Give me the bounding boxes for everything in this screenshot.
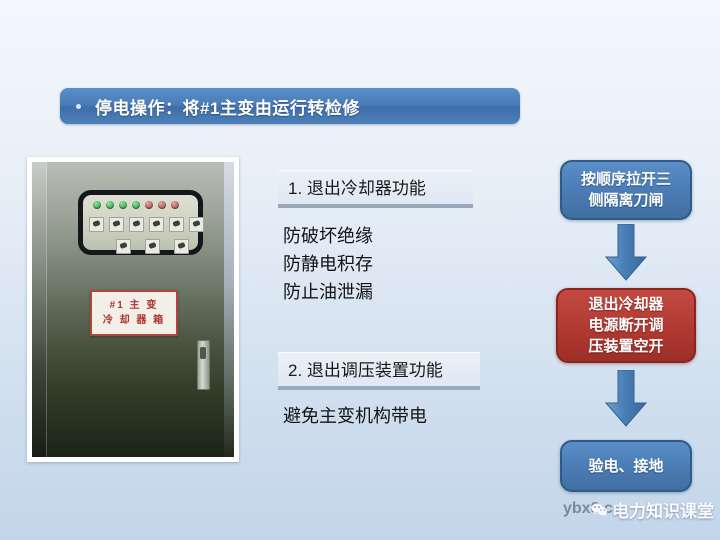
cabinet-photo-image: #1 主 变 冷 却 器 箱 bbox=[32, 162, 234, 457]
rotary-switch-icon bbox=[149, 217, 164, 232]
section-1-heading: 1. 退出冷却器功能 bbox=[278, 170, 473, 208]
rotary-switch-icon bbox=[89, 217, 104, 232]
rotary-switch-row-bottom bbox=[116, 239, 189, 254]
cabinet-photo: #1 主 变 冷 却 器 箱 bbox=[27, 157, 239, 462]
indicator-lamp-green bbox=[132, 201, 140, 209]
flow-arrow-down-2 bbox=[602, 370, 650, 428]
channel-watermark-label: 电力知识课堂 bbox=[612, 497, 714, 522]
flow-arrow-down-1 bbox=[602, 224, 650, 282]
section-2-heading: 2. 退出调压装置功能 bbox=[278, 352, 480, 390]
indicator-lamp-red bbox=[145, 201, 153, 209]
section-1-body: 防破坏绝缘 防静电积存 防止油泄漏 bbox=[283, 222, 373, 306]
cabinet-nameplate: #1 主 变 冷 却 器 箱 bbox=[90, 290, 178, 336]
slide-canvas: 停电操作：将#1主变由运行转检修 bbox=[0, 0, 720, 540]
nameplate-line-2: 冷 却 器 箱 bbox=[103, 313, 165, 328]
rotary-switch-icon bbox=[169, 217, 184, 232]
slide-title-text: 停电操作：将#1主变由运行转检修 bbox=[95, 94, 360, 119]
indicator-lamp-green bbox=[106, 201, 114, 209]
indicator-lamp-green bbox=[119, 201, 127, 209]
rotary-switch-icon bbox=[174, 239, 189, 254]
indicator-lamp-green bbox=[93, 201, 101, 209]
indicator-lamp-row bbox=[93, 201, 179, 209]
rotary-switch-icon bbox=[129, 217, 144, 232]
bullet-icon bbox=[76, 104, 81, 109]
flow-step-1: 按顺序拉开三 侧隔离刀闸 bbox=[560, 160, 692, 220]
channel-watermark: 电力知识课堂 bbox=[591, 497, 714, 522]
rotary-switch-icon bbox=[189, 217, 204, 232]
rotary-switch-icon bbox=[116, 239, 131, 254]
nameplate-line-1: #1 主 变 bbox=[110, 298, 159, 313]
cabinet-door-handle bbox=[197, 340, 210, 390]
cabinet-door-right-edge bbox=[224, 162, 234, 457]
rotary-switch-row-top bbox=[89, 217, 204, 232]
indicator-lamp-red bbox=[171, 201, 179, 209]
rotary-switch-icon bbox=[109, 217, 124, 232]
flow-step-3: 验电、接地 bbox=[560, 440, 692, 492]
control-panel-window bbox=[78, 190, 203, 255]
wechat-icon bbox=[591, 502, 608, 517]
slide-title-banner: 停电操作：将#1主变由运行转检修 bbox=[60, 88, 520, 124]
section-2-body: 避免主变机构带电 bbox=[283, 402, 427, 430]
indicator-lamp-red bbox=[158, 201, 166, 209]
cabinet-door-left-edge bbox=[32, 162, 47, 457]
rotary-switch-icon bbox=[145, 239, 160, 254]
flow-step-2: 退出冷却器 电源断开调 压装置空开 bbox=[556, 288, 696, 363]
